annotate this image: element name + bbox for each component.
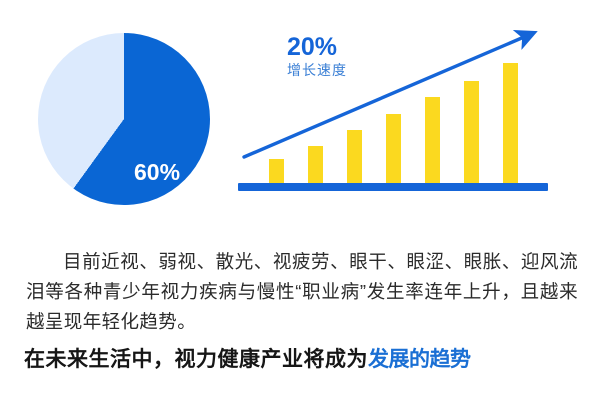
pie-disc <box>38 33 210 205</box>
bar-chart: 20% 增长速度 <box>236 20 556 215</box>
growth-caption: 增长速度 <box>287 63 347 78</box>
pie-chart: 60% <box>38 33 210 205</box>
headline-accent-text: 发展的趋势 <box>368 347 471 371</box>
pie-slice-label: 60% <box>134 161 180 184</box>
chart-baseline <box>238 183 548 191</box>
growth-annotation: 20% 增长速度 <box>287 34 347 78</box>
graphics-band: 60% 20% 增长速度 <box>0 0 600 215</box>
body-paragraph: 目前近视、弱视、散光、视疲劳、眼干、眼涩、眼胀、迎风流泪等各种青少年视力疾病与慢… <box>26 247 578 337</box>
poster-canvas: 60% 20% 增长速度 目前近视、弱视、散光、视疲劳、眼干、眼涩、眼胀、迎风流… <box>0 0 600 400</box>
growth-percent: 20% <box>287 34 347 60</box>
headline: 在未来生活中，视力健康产业将成为发展的趋势 <box>24 344 584 375</box>
headline-plain-text: 在未来生活中，视力健康产业将成为 <box>24 348 368 371</box>
